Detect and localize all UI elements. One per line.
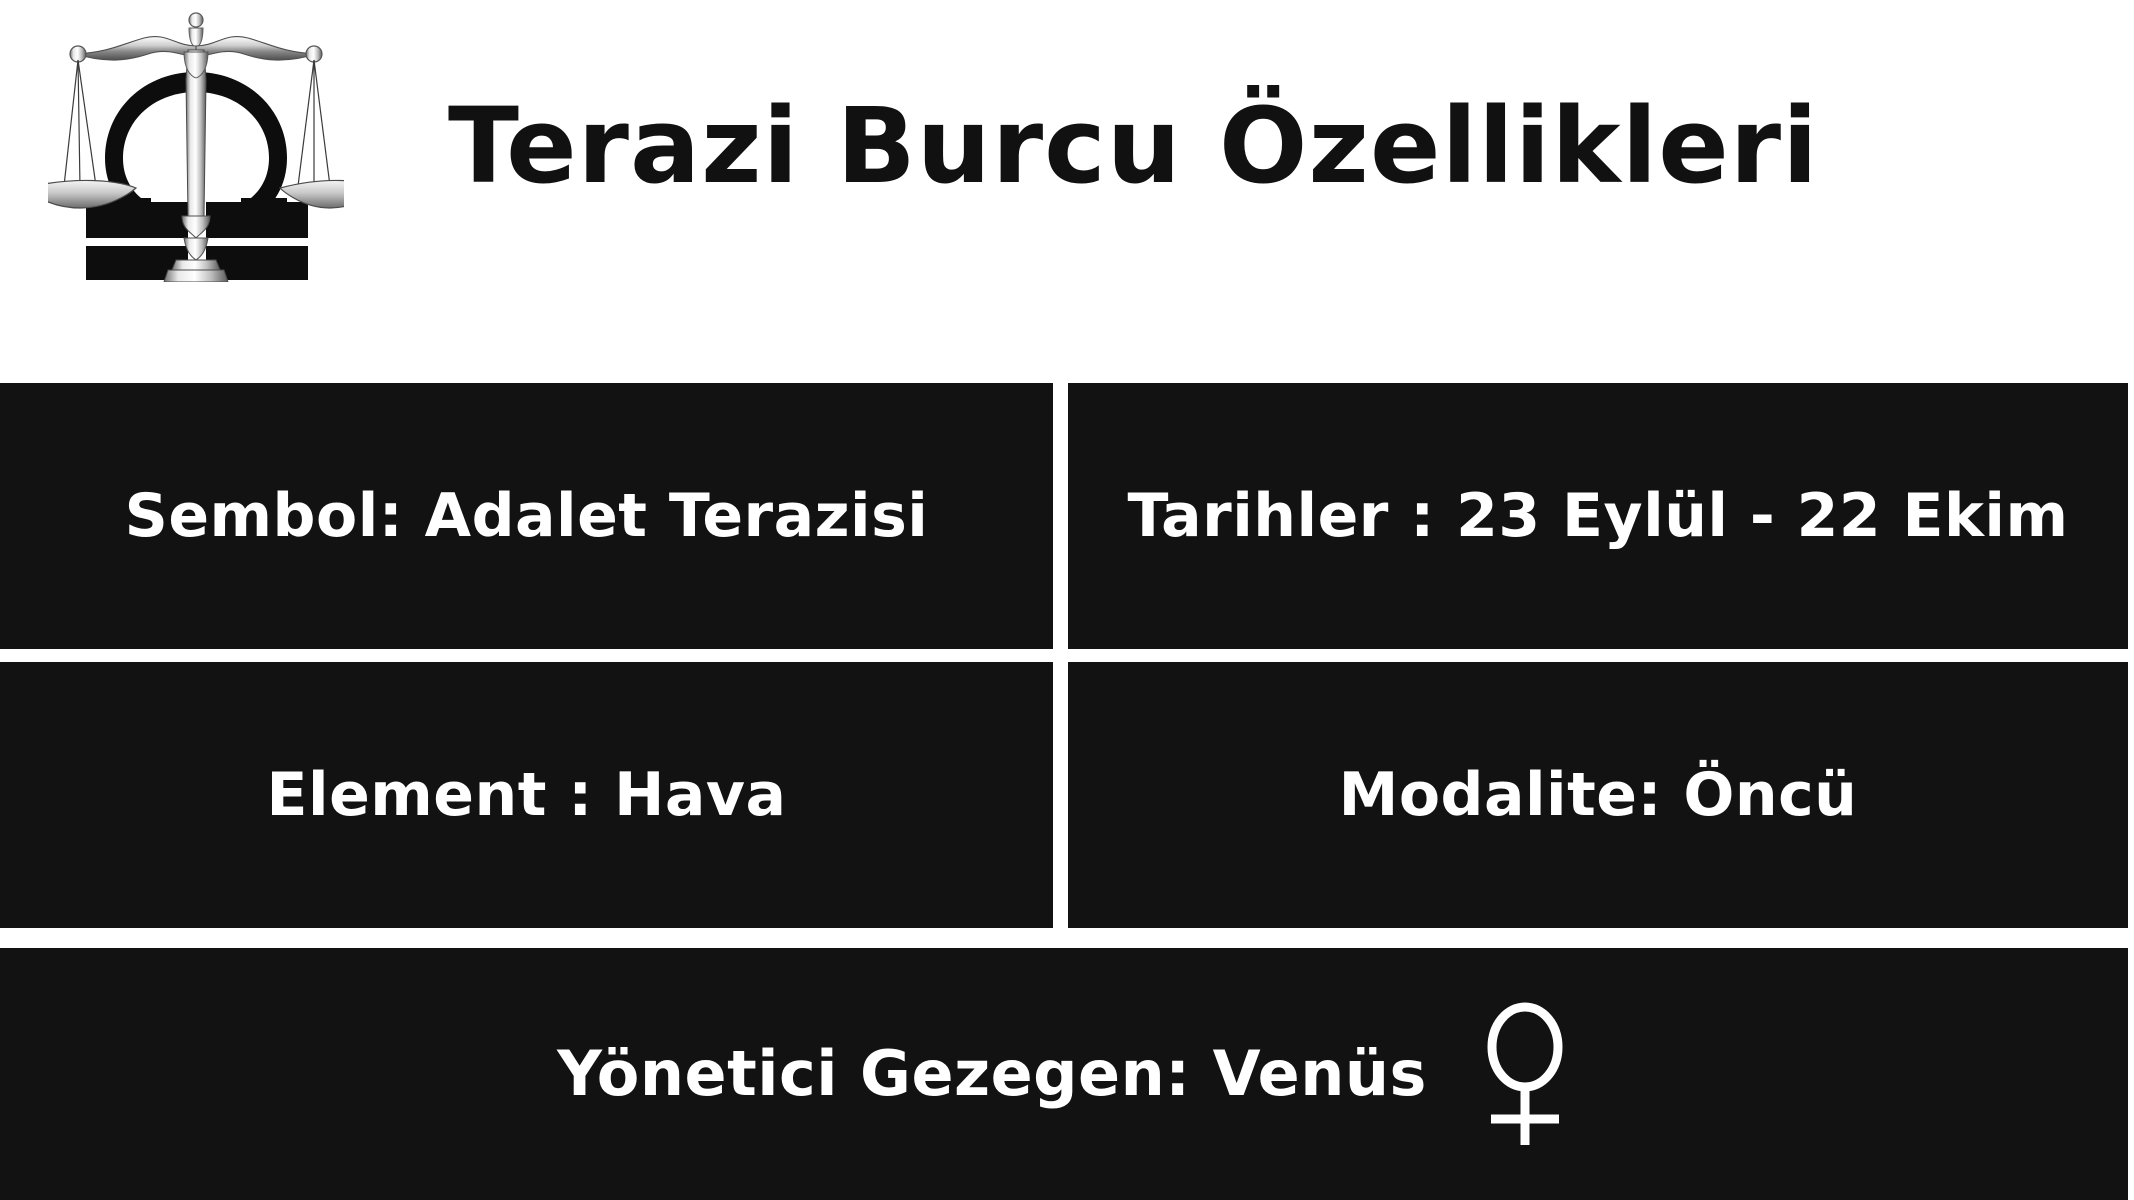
card-yonetici-gezegen-label: Yönetici Gezegen: Venüs xyxy=(557,1040,1427,1108)
terazi-burcu-infographic: Terazi Burcu Özellikleri Sembol: Adalet … xyxy=(0,0,2134,1200)
card-modalite-label: Modalite: Öncü xyxy=(1339,762,1858,828)
header: Terazi Burcu Özellikleri xyxy=(0,0,2134,383)
card-tarihler: Tarihler : 23 Eylül - 22 Ekim xyxy=(1068,383,2128,649)
page-title: Terazi Burcu Özellikleri xyxy=(448,86,2008,206)
card-element: Element : Hava xyxy=(0,662,1053,928)
libra-scales-icon xyxy=(48,2,344,282)
card-element-label: Element : Hava xyxy=(267,762,787,828)
card-tarihler-label: Tarihler : 23 Eylül - 22 Ekim xyxy=(1127,483,2068,549)
card-modalite: Modalite: Öncü xyxy=(1068,662,2128,928)
card-yonetici-gezegen: Yönetici Gezegen: Venüs xyxy=(0,948,2128,1200)
venus-symbol-icon xyxy=(1479,999,1571,1149)
card-sembol: Sembol: Adalet Terazisi xyxy=(0,383,1053,649)
card-sembol-label: Sembol: Adalet Terazisi xyxy=(125,483,929,549)
